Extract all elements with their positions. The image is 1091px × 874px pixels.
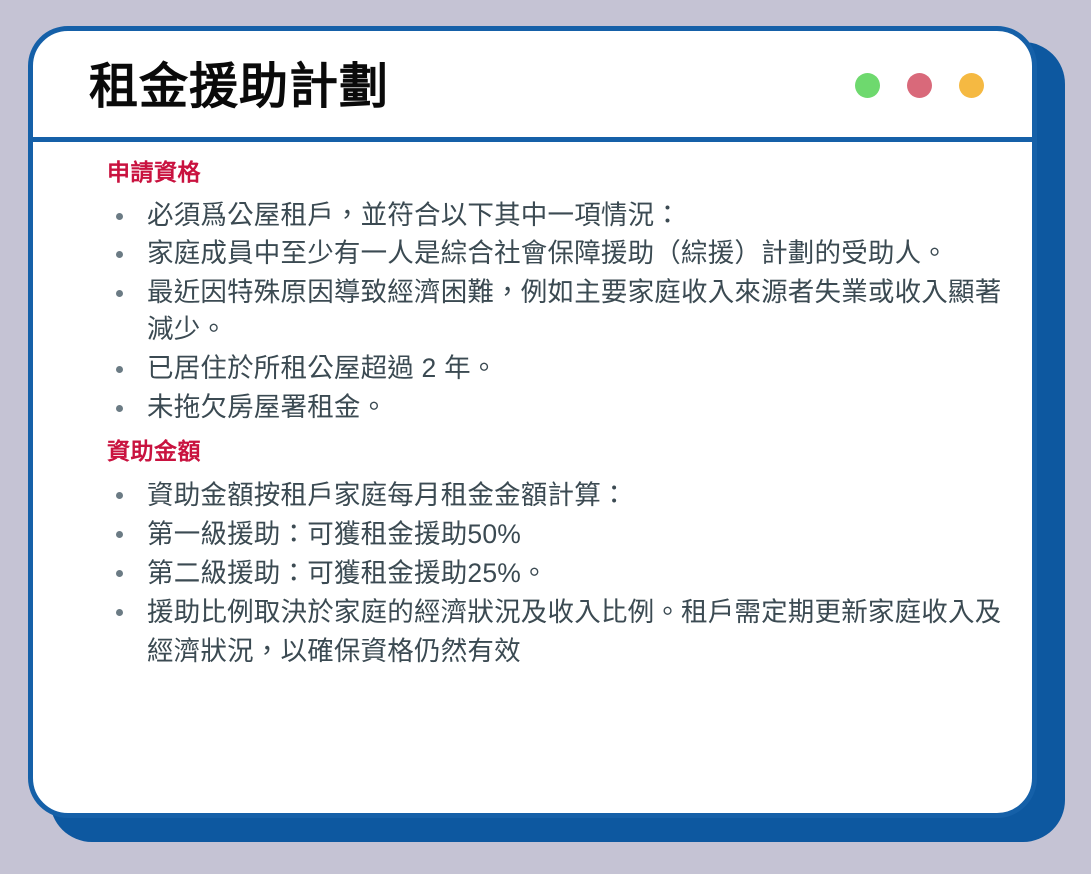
page-stage: 租金援助計劃 申請資格 必須爲公屋租戶，並符合以下其中一項情況： 家庭成員中至少… [0, 0, 1091, 874]
maximize-dot[interactable] [959, 73, 984, 98]
list-item: 未拖欠房屋署租金。 [105, 389, 1002, 427]
list-item: 資助金額按租戶家庭每月租金金額計算： [105, 476, 1002, 514]
card-header: 租金援助計劃 [33, 31, 1032, 137]
minimize-dot[interactable] [855, 73, 880, 98]
list-item: 必須爲公屋租戶，並符合以下其中一項情況： [105, 197, 1002, 235]
eligibility-bullet-list: 必須爲公屋租戶，並符合以下其中一項情況： 家庭成員中至少有一人是綜合社會保障援助… [105, 197, 1002, 427]
window-controls [855, 73, 984, 98]
list-item: 最近因特殊原因導致經濟困難，例如主要家庭收入來源者失業或收入顯著減少。 [105, 274, 1002, 349]
section-heading-eligibility: 申請資格 [107, 160, 1002, 188]
list-item: 已居住於所租公屋超過 2 年。 [105, 350, 1002, 388]
list-item: 第二級援助：可獲租金援助25%。 [105, 554, 1002, 592]
page-title: 租金援助計劃 [89, 62, 389, 111]
list-item: 家庭成員中至少有一人是綜合社會保障援助（綜援）計劃的受助人。 [105, 235, 1002, 273]
section-subsidy-amount: 資助金額 資助金額按租戶家庭每月租金金額計算： 第一級援助：可獲租金援助50% … [105, 439, 1002, 669]
subsidy-bullet-list: 資助金額按租戶家庭每月租金金額計算： 第一級援助：可獲租金援助50% 第二級援助… [105, 476, 1002, 670]
close-dot[interactable] [907, 73, 932, 98]
info-card: 租金援助計劃 申請資格 必須爲公屋租戶，並符合以下其中一項情況： 家庭成員中至少… [28, 26, 1037, 818]
section-heading-subsidy-amount: 資助金額 [107, 439, 1002, 467]
list-item: 援助比例取決於家庭的經濟狀況及收入比例。租戶需定期更新家庭收入及經濟狀況，以確保… [105, 593, 1002, 669]
list-item: 第一級援助：可獲租金援助50% [105, 515, 1002, 553]
card-body: 申請資格 必須爲公屋租戶，並符合以下其中一項情況： 家庭成員中至少有一人是綜合社… [33, 142, 1032, 670]
section-eligibility: 申請資格 必須爲公屋租戶，並符合以下其中一項情況： 家庭成員中至少有一人是綜合社… [105, 160, 1002, 426]
